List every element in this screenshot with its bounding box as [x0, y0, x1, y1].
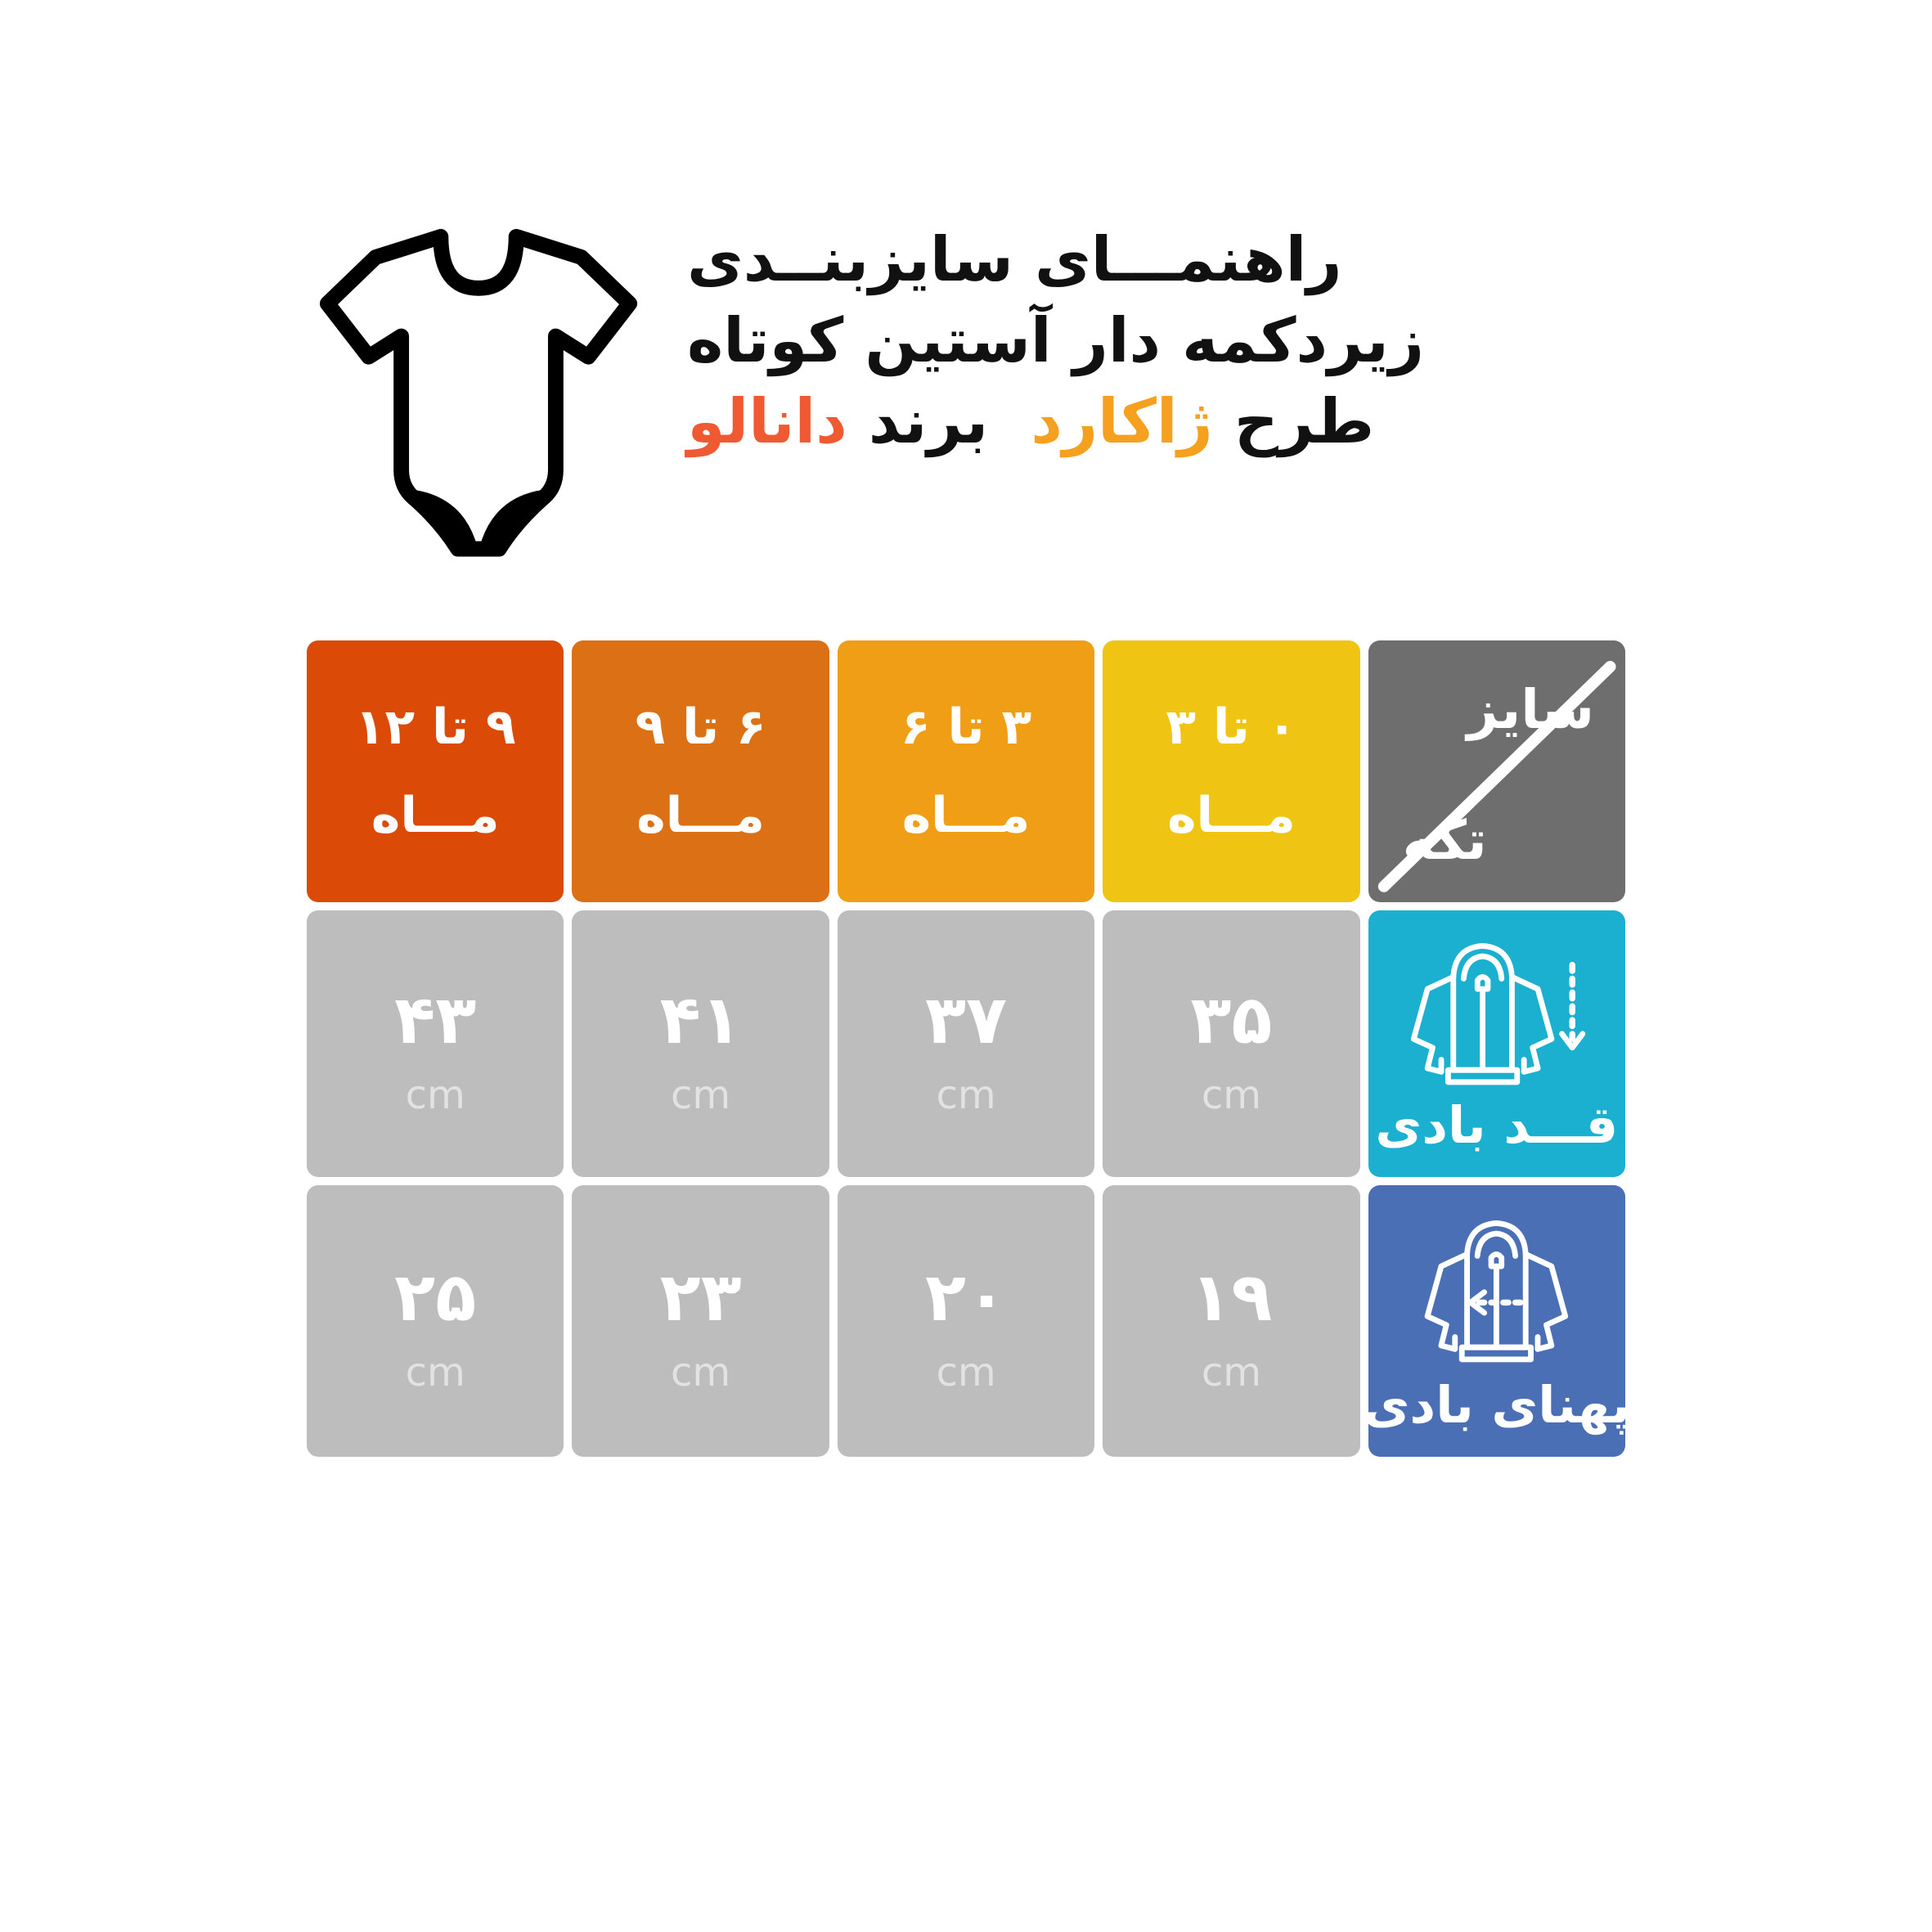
- measurement-value: ۳۵: [1190, 987, 1272, 1054]
- age-range-top: ۶ تا ۹: [636, 700, 766, 754]
- cell-body-length-3-6: ۳۷ cm: [838, 910, 1094, 1177]
- corner-label-size: سایز: [1467, 683, 1594, 737]
- title-word-brandname: دانالو: [687, 385, 847, 457]
- jacket-horizontal-arrow-icon: [1377, 1203, 1617, 1380]
- cell-body-width-9-12: ۲۵ cm: [307, 1185, 564, 1457]
- measurement-unit: cm: [1202, 1076, 1261, 1115]
- cell-body-length-6-9: ۴۱ cm: [572, 910, 829, 1177]
- title-line-2: زیردکمه دار آستین کوتاه: [687, 300, 1424, 381]
- measurement-value: ۳۷: [925, 987, 1007, 1054]
- baby-bodysuit-icon: [303, 213, 654, 564]
- measurement-value: ۲۳: [660, 1265, 742, 1332]
- corner-label-piece: تکه: [1403, 814, 1487, 868]
- age-range-unit: مـــاه: [636, 789, 765, 842]
- measurement-unit: cm: [671, 1353, 730, 1392]
- title-line-1: راهنمـــای سایزبنــدی: [687, 219, 1342, 300]
- row-header-body-width: پهنای بادی: [1368, 1185, 1625, 1457]
- page-header: راهنمـــای سایزبنــدی زیردکمه دار آستین …: [303, 204, 1629, 589]
- cell-body-width-6-9: ۲۳ cm: [572, 1185, 829, 1457]
- cell-body-width-3-6: ۲۰ cm: [838, 1185, 1094, 1457]
- row-label-body-length: قـــد بادی: [1375, 1100, 1618, 1156]
- title-word-brand: برند: [869, 385, 988, 457]
- measurement-unit: cm: [406, 1076, 465, 1115]
- table-corner-header: سایز تکه: [1368, 640, 1625, 902]
- age-range-unit: مـــاه: [902, 789, 1031, 842]
- cell-body-length-0-3: ۳۵ cm: [1103, 910, 1359, 1177]
- measurement-value: ۴۳: [394, 987, 476, 1054]
- age-range-top: ۳ تا ۶: [901, 700, 1031, 754]
- age-range-top: ۰ تا ۳: [1166, 700, 1296, 754]
- size-guide-table: سایز تکه ۰ تا ۳ مـــاه ۳ تا ۶ مـــاه ۶ ت…: [303, 636, 1629, 1461]
- measurement-value: ۱۹: [1190, 1265, 1272, 1332]
- measurement-value: ۴۱: [660, 987, 742, 1054]
- age-range-unit: مـــاه: [1167, 789, 1296, 842]
- title-line-3: طرح ژاکارد برند دانالو: [687, 381, 1374, 462]
- column-header-9-12-months: ۹ تا ۱۲ مـــاه: [307, 640, 564, 902]
- column-header-3-6-months: ۳ تا ۶ مـــاه: [838, 640, 1094, 902]
- measurement-unit: cm: [1202, 1353, 1261, 1392]
- measurement-unit: cm: [671, 1076, 730, 1115]
- measurement-unit: cm: [406, 1353, 465, 1392]
- cell-body-width-0-3: ۱۹ cm: [1103, 1185, 1359, 1457]
- column-header-0-3-months: ۰ تا ۳ مـــاه: [1103, 640, 1359, 902]
- column-header-6-9-months: ۶ تا ۹ مـــاه: [572, 640, 829, 902]
- measurement-value: ۲۵: [394, 1265, 476, 1332]
- measurement-unit: cm: [936, 1353, 995, 1392]
- title-word-tarh: طرح: [1234, 385, 1374, 457]
- row-label-body-width: پهنای بادی: [1368, 1380, 1625, 1436]
- measurement-unit: cm: [936, 1076, 995, 1115]
- age-range-unit: مـــاه: [371, 789, 500, 842]
- title-word-jacquard: ژاکارد: [1031, 385, 1212, 457]
- page-title: راهنمـــای سایزبنــدی زیردکمه دار آستین …: [654, 204, 1629, 462]
- jacket-vertical-arrow-icon: [1377, 928, 1617, 1100]
- row-header-body-length: قـــد بادی: [1368, 910, 1625, 1177]
- cell-body-length-9-12: ۴۳ cm: [307, 910, 564, 1177]
- measurement-value: ۲۰: [925, 1265, 1007, 1332]
- age-range-top: ۹ تا ۱۲: [355, 700, 516, 754]
